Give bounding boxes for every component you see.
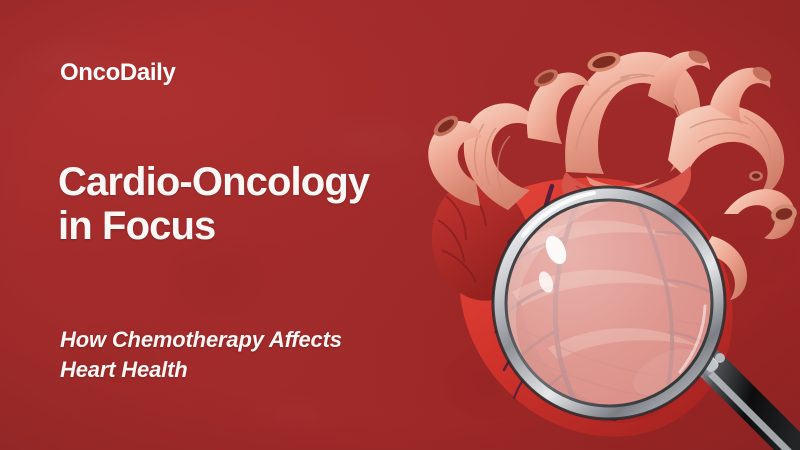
page-subtitle: How Chemotherapy Affects Heart Health [60, 325, 342, 385]
page-title: Cardio-Oncology in Focus [58, 160, 369, 248]
collar-screw-b [715, 353, 725, 363]
promo-banner: OncoDaily Cardio-Oncology in Focus How C… [0, 0, 800, 450]
artwork-container [380, 0, 800, 450]
brand-logo[interactable]: OncoDaily [60, 59, 175, 87]
